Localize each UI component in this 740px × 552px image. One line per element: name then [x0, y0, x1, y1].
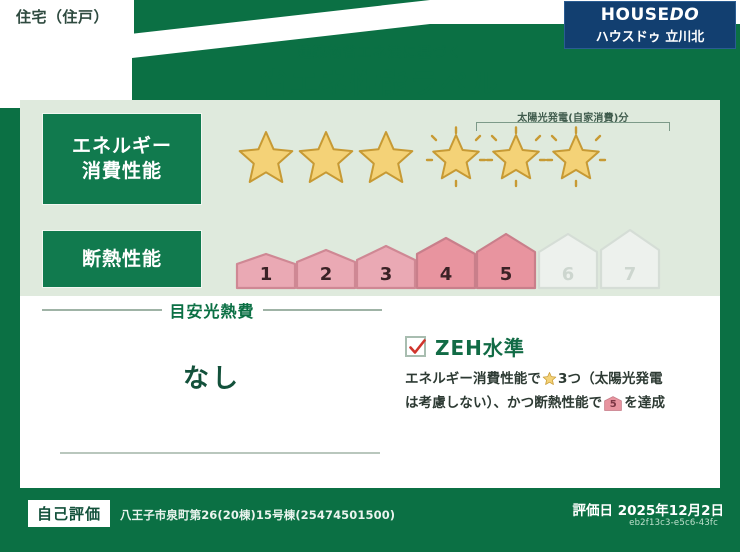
zeh-title: ZEH水準 — [435, 332, 525, 361]
energy-performance-label-box: エネルギー 消費性能 — [42, 113, 202, 205]
zeh-desc-part2: は考慮しない）、かつ断熱性能で — [405, 395, 602, 411]
inline-house-icon: 5 — [604, 396, 622, 418]
insulation-performance-label-text: 断熱性能 — [82, 247, 162, 272]
utility-cost-value: なし — [42, 358, 382, 395]
brand-name-accent: DO — [670, 5, 700, 25]
insulation-level-3-num: 3 — [355, 264, 417, 285]
ratings-region: エネルギー 消費性能 太陽光発電(自家消費)分 — [20, 100, 720, 296]
evaluation-date: 評価日 2025年12月2日 — [573, 499, 724, 519]
insulation-performance-label-box: 断熱性能 — [42, 230, 202, 288]
lower-divider-rule — [60, 452, 380, 454]
evaluation-date-value: 2025年12月2日 — [618, 503, 724, 519]
category-tab-label: 住宅（住戸） — [16, 6, 109, 27]
star-6-solar — [545, 126, 607, 188]
insulation-level-1-num: 1 — [235, 264, 297, 285]
energy-performance-label-line2: 消費性能 — [82, 159, 162, 184]
insulation-level-7-num: 7 — [599, 264, 661, 285]
insulation-level-2-num: 2 — [295, 264, 357, 285]
star-2 — [295, 126, 357, 188]
brand-badge: HOUSEDO ハウスドゥ 立川北 — [564, 1, 736, 49]
energy-performance-label: 住宅（住戸） 建築物省エネ法に基づく 省エネ性能ラベル HOUSEDO ハウスド… — [0, 0, 740, 552]
insulation-level-1: 1 — [235, 252, 297, 290]
insulation-level-7: 7 — [599, 228, 661, 290]
property-address: 八王子市泉町第26(20棟)15号棟(25474501500) — [120, 507, 395, 523]
brand-name-main: HOUSE — [601, 5, 670, 25]
label-footer: 自己評価 八王子市泉町第26(20棟)15号棟(25474501500) 評価日… — [0, 488, 740, 552]
card-lower-section: 目安光熱費 なし ZEH水準 エネルギー消費性能で3つ（太陽光発電は考慮しない）… — [20, 296, 720, 488]
star-1 — [235, 126, 297, 188]
evaluation-date-label: 評価日 — [573, 503, 614, 519]
star-5-solar — [485, 126, 547, 188]
zeh-checkbox — [405, 336, 426, 357]
label-card: エネルギー 消費性能 太陽光発電(自家消費)分 — [20, 100, 720, 488]
evaluation-hash: eb2f13c3-e5c6-43fc — [629, 518, 718, 528]
utility-cost-rule-left — [42, 309, 162, 311]
brand-name-jp: ハウスドゥ 立川北 — [596, 26, 705, 45]
insulation-level-5: 5 — [475, 232, 537, 290]
utility-cost-rule-right — [263, 309, 383, 311]
zeh-description: エネルギー消費性能で3つ（太陽光発電は考慮しない）、かつ断熱性能で5を達成 — [405, 369, 705, 418]
insulation-level-2: 2 — [295, 248, 357, 290]
zeh-desc-part3: を達成 — [624, 395, 665, 411]
zeh-desc-part1: エネルギー消費性能で — [405, 371, 541, 387]
inline-house-num: 5 — [604, 397, 622, 413]
inline-star-icon — [542, 371, 557, 393]
insulation-level-4: 4 — [415, 236, 477, 290]
insulation-level-6: 6 — [537, 232, 599, 290]
utility-cost-header: 目安光熱費 — [42, 300, 382, 320]
insulation-level-5-num: 5 — [475, 264, 537, 285]
zeh-header: ZEH水準 — [405, 332, 705, 361]
utility-cost-caption: 目安光熱費 — [170, 298, 255, 322]
insulation-level-3: 3 — [355, 244, 417, 290]
energy-performance-label-line1: エネルギー — [72, 134, 172, 159]
star-4-solar — [425, 126, 487, 188]
self-evaluation-badge: 自己評価 — [28, 500, 110, 527]
brand-name-latin: HOUSEDO — [601, 5, 699, 25]
energy-star-rating — [235, 126, 705, 192]
zeh-block: ZEH水準 エネルギー消費性能で3つ（太陽光発電は考慮しない）、かつ断熱性能で5… — [405, 332, 705, 418]
insulation-level-6-num: 6 — [537, 264, 599, 285]
insulation-level-scale: 1 2 3 4 — [235, 224, 715, 290]
star-3 — [355, 126, 417, 188]
insulation-level-4-num: 4 — [415, 264, 477, 285]
zeh-desc-star-count: 3つ（太陽光発電 — [558, 371, 663, 387]
page-title: 省エネ性能ラベル — [0, 62, 740, 102]
